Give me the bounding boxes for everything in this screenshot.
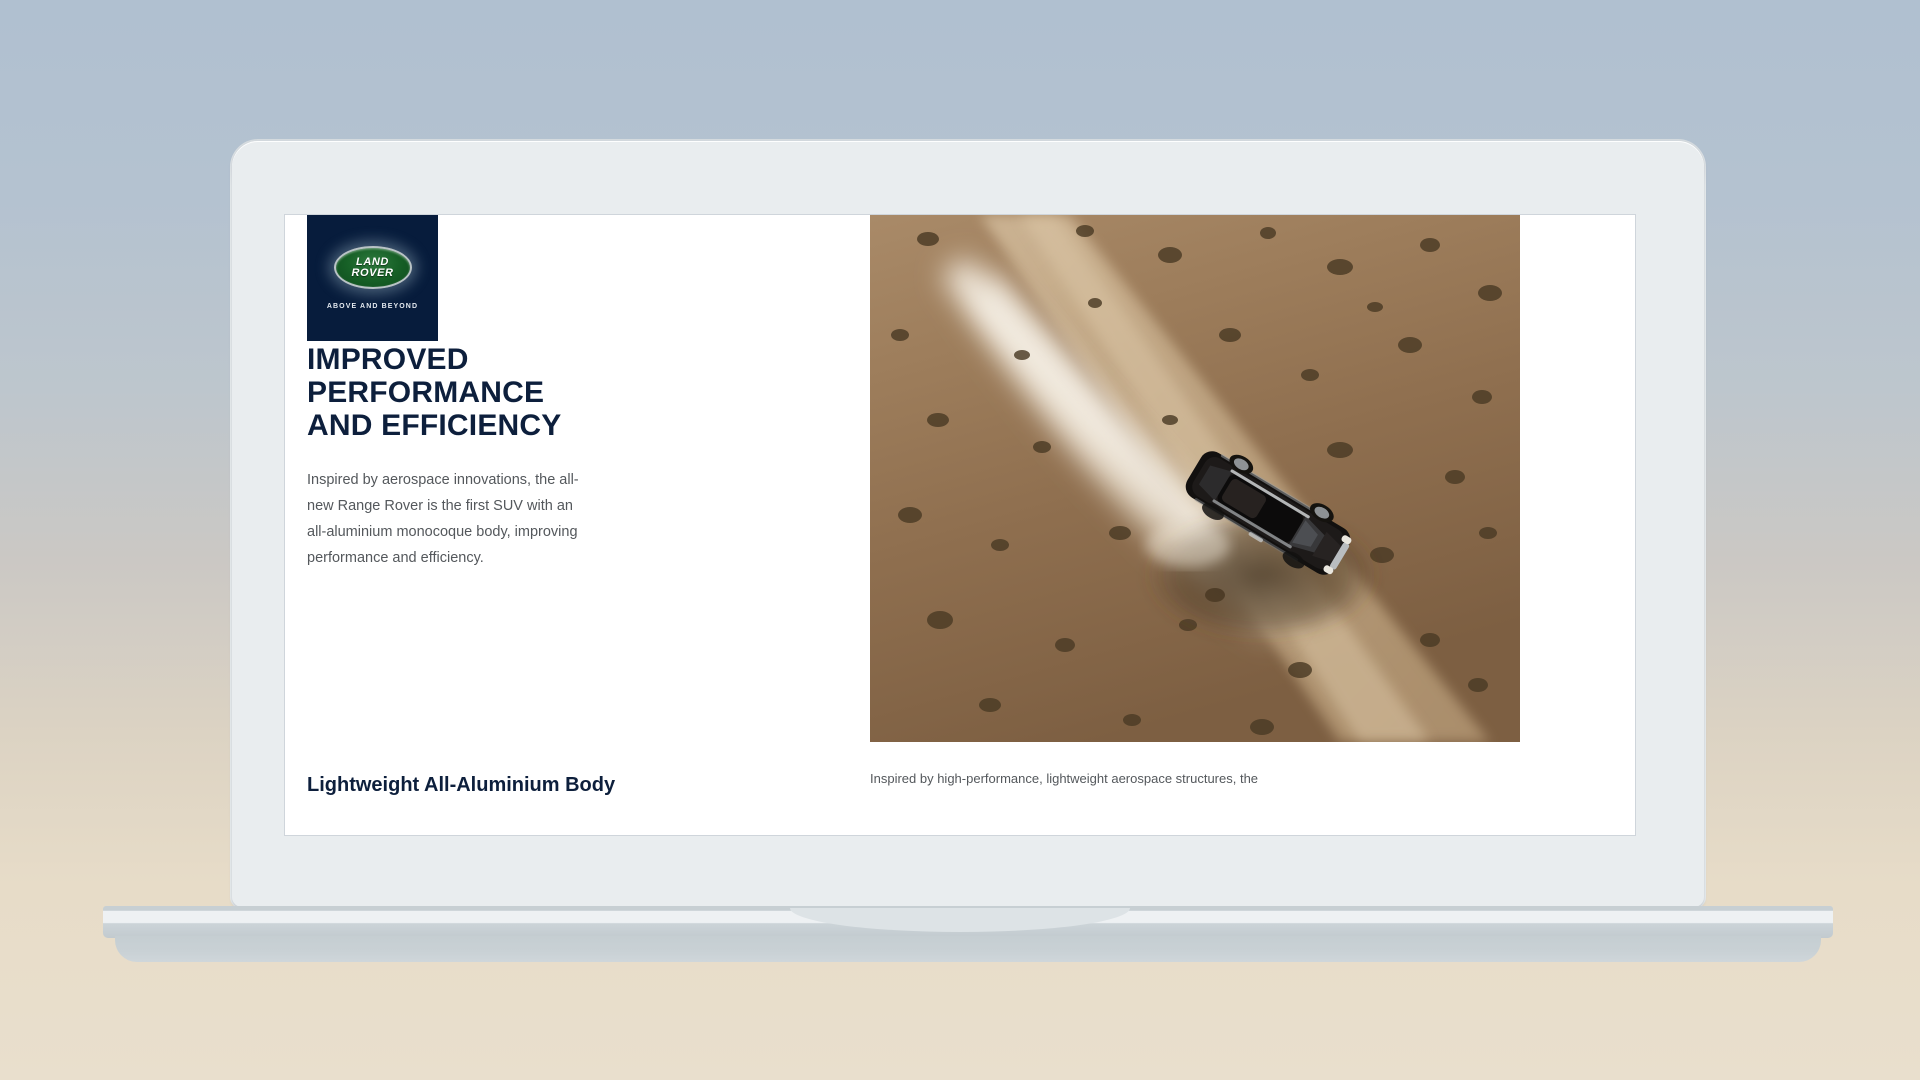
laptop-screen: LAND ROVER ABOVE AND BEYOND IMPROVED PER… bbox=[285, 215, 1635, 835]
logo-tagline: ABOVE AND BEYOND bbox=[327, 303, 418, 310]
desert-range-rover-photo bbox=[870, 215, 1520, 742]
hero-image bbox=[870, 215, 1520, 742]
page-title: IMPROVED PERFORMANCE AND EFFICIENCY bbox=[307, 343, 607, 442]
land-rover-badge-icon: LAND ROVER bbox=[334, 246, 412, 289]
section-body-paragraph: Inspired by high-performance, lightweigh… bbox=[870, 767, 1390, 790]
logo-text-line-1: LAND bbox=[356, 257, 389, 268]
section-subheading: Lightweight All-Aluminium Body bbox=[307, 772, 615, 798]
land-rover-logo[interactable]: LAND ROVER ABOVE AND BEYOND bbox=[307, 215, 438, 341]
laptop-base-front bbox=[115, 936, 1821, 962]
logo-text-line-2: ROVER bbox=[351, 268, 393, 279]
web-page: LAND ROVER ABOVE AND BEYOND IMPROVED PER… bbox=[285, 215, 1635, 835]
left-text-column: IMPROVED PERFORMANCE AND EFFICIENCY Insp… bbox=[307, 343, 607, 571]
laptop-mockup: LAND ROVER ABOVE AND BEYOND IMPROVED PER… bbox=[0, 0, 1920, 1080]
intro-paragraph: Inspired by aerospace innovations, the a… bbox=[307, 467, 595, 571]
